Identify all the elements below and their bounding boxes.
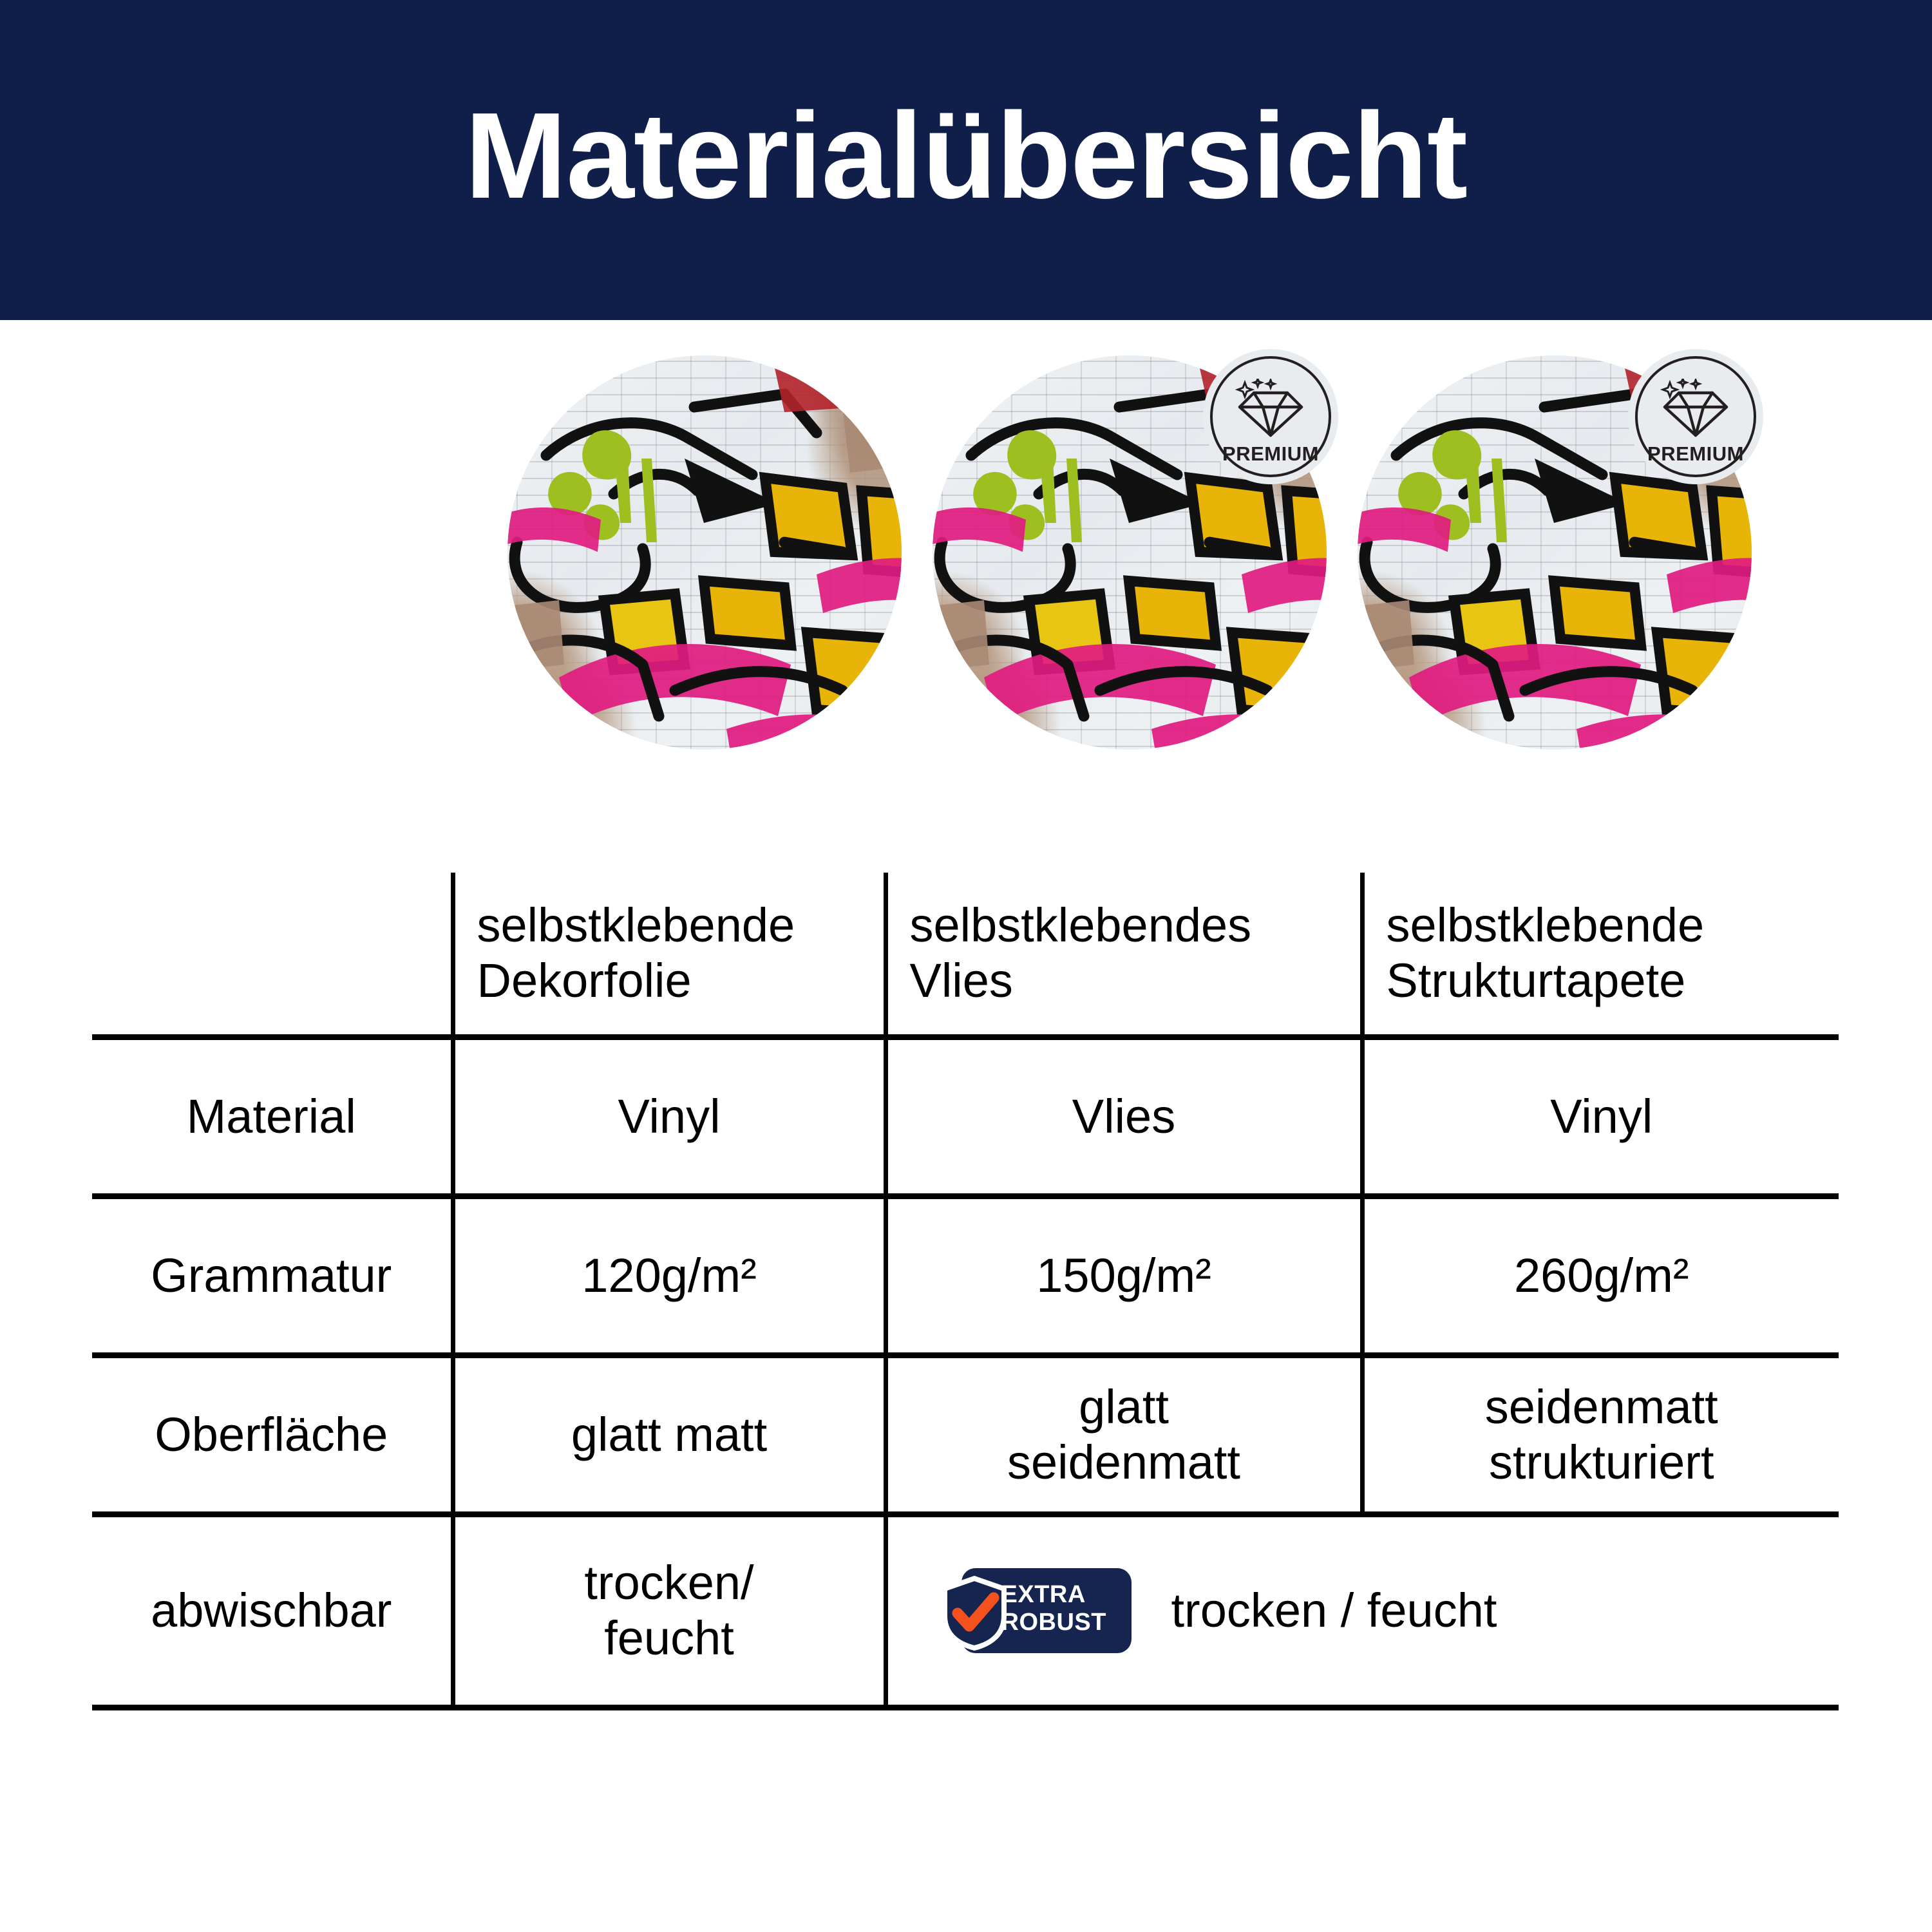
table-row-grammatur: Grammatur 120g/m² 150g/m² 260g/m² [92, 1196, 1839, 1355]
table-bottom-border-cell [885, 1707, 1362, 1710]
material-preview-row: PREMIUM [0, 355, 1932, 755]
table-row-abwischbar: abwischbar trocken/ feucht [92, 1514, 1839, 1707]
material-preview-1[interactable] [507, 355, 902, 750]
cell-line1: trocken/ [584, 1556, 753, 1609]
extra-robust-label: EXTRA ROBUST [1001, 1581, 1125, 1636]
table-bottom-border-cell [92, 1707, 453, 1710]
row-label-material: Material [92, 1037, 453, 1196]
table-header-row: selbstklebende Dekorfolie selbstklebende… [92, 873, 1839, 1037]
column-header-line1: selbstklebende [1387, 898, 1705, 952]
column-header-line2: Dekorfolie [477, 954, 692, 1007]
graffiti-preview-image-1 [507, 355, 902, 750]
table-row-oberflaeche: Oberfläche glatt matt glatt seidenmatt s… [92, 1355, 1839, 1514]
cell-grammatur-strukturtapete: 260g/m² [1362, 1196, 1839, 1355]
column-header-strukturtapete: selbstklebende Strukturtapete [1362, 873, 1839, 1037]
cell-abwischbar-merged: EXTRA ROBUST trocken / feucht [885, 1514, 1839, 1707]
row-label-abwischbar: abwischbar [92, 1514, 453, 1707]
column-header-dekorfolie: selbstklebende Dekorfolie [453, 873, 885, 1037]
premium-badge: PREMIUM [1628, 349, 1763, 484]
material-overview-page: Materialübersicht [0, 0, 1932, 1932]
extra-robust-line1: EXTRA [1001, 1581, 1125, 1609]
material-spec-table: selbstklebende Dekorfolie selbstklebende… [92, 873, 1839, 1710]
premium-badge-label: PREMIUM [1647, 444, 1744, 464]
extra-robust-line2: ROBUST [1001, 1609, 1125, 1636]
header-band: Materialübersicht [0, 0, 1932, 320]
table-row-material: Material Vinyl Vlies Vinyl [92, 1037, 1839, 1196]
column-header-line1: selbstklebendes [910, 898, 1252, 952]
material-spec-table-wrap: selbstklebende Dekorfolie selbstklebende… [92, 873, 1839, 1839]
row-label-grammatur: Grammatur [92, 1196, 453, 1355]
column-header-vlies: selbstklebendes Vlies [885, 873, 1362, 1037]
cell-oberflaeche-dekorfolie: glatt matt [453, 1355, 885, 1514]
cell-oberflaeche-vlies: glatt seidenmatt [885, 1355, 1362, 1514]
material-preview-2[interactable]: PREMIUM [933, 355, 1327, 750]
row-label-oberflaeche: Oberfläche [92, 1355, 453, 1514]
cell-material-strukturtapete: Vinyl [1362, 1037, 1839, 1196]
extra-robust-badge: EXTRA ROBUST [940, 1568, 1132, 1653]
cell-abwischbar-dekorfolie: trocken/ feucht [453, 1514, 885, 1707]
table-bottom-border-row [92, 1707, 1839, 1710]
column-header-line2: Strukturtapete [1387, 954, 1686, 1007]
cell-oberflaeche-strukturtapete: seidenmatt strukturiert [1362, 1355, 1839, 1514]
diamond-icon [1660, 379, 1732, 441]
column-header-line2: Vlies [910, 954, 1013, 1007]
cell-grammatur-vlies: 150g/m² [885, 1196, 1362, 1355]
column-header-line1: selbstklebende [477, 898, 795, 952]
cell-line2: feucht [604, 1611, 734, 1665]
cell-line2: seidenmatt [1007, 1435, 1240, 1489]
material-preview-3[interactable]: PREMIUM [1358, 355, 1752, 750]
cell-material-dekorfolie: Vinyl [453, 1037, 885, 1196]
diamond-icon [1235, 379, 1307, 441]
shield-check-icon [940, 1576, 1009, 1651]
premium-badge: PREMIUM [1203, 349, 1338, 484]
cell-line2: strukturiert [1489, 1435, 1714, 1489]
cell-line1: glatt [1079, 1380, 1169, 1434]
premium-badge-label: PREMIUM [1222, 444, 1319, 464]
cell-line1: seidenmatt [1485, 1380, 1718, 1434]
cell-grammatur-dekorfolie: 120g/m² [453, 1196, 885, 1355]
table-bottom-border-cell [1362, 1707, 1839, 1710]
cell-material-vlies: Vlies [885, 1037, 1362, 1196]
table-bottom-border-cell [453, 1707, 885, 1710]
header-corner-cell [92, 873, 453, 1037]
page-title: Materialübersicht [465, 95, 1467, 217]
cell-abwischbar-merged-text: trocken / feucht [1171, 1583, 1497, 1638]
